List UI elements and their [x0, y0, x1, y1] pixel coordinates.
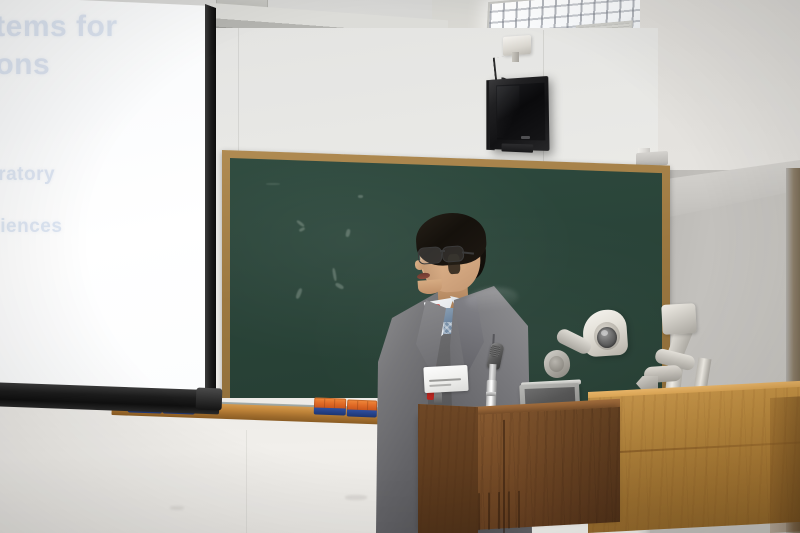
- chalkboard-eraser[interactable]: [347, 399, 378, 417]
- badge-text-line: [429, 378, 461, 382]
- projection-screen[interactable]: stems for tions boratory Sciences: [0, 0, 212, 400]
- lanyard-clip-icon: [434, 392, 442, 404]
- eyeglasses-bridge: [440, 250, 445, 252]
- projection-screen-bar-end: [196, 388, 223, 411]
- lectern-side-panel: [418, 404, 478, 533]
- wall-smudge: [170, 506, 184, 510]
- slide-line-3: boratory: [0, 164, 55, 186]
- tv-brand-logo-icon: [521, 136, 530, 139]
- tv-screen-glare: [497, 86, 519, 139]
- badge-text-line: [429, 384, 451, 387]
- document-camera-joint-hub: [549, 356, 564, 372]
- chalkboard-eraser[interactable]: [314, 397, 347, 415]
- document-camera-head-top[interactable]: [661, 303, 697, 335]
- wall-seam: [246, 430, 247, 533]
- eyeglasses-lens-left: [417, 246, 442, 265]
- lens-glare: [601, 330, 608, 336]
- eraser-base: [347, 409, 377, 417]
- eraser-base: [314, 407, 346, 415]
- slide-line-1: stems for: [0, 10, 118, 44]
- slide-line-4: Sciences: [0, 216, 62, 238]
- wall-smudge: [345, 495, 367, 500]
- eyeglasses-lens-right: [441, 245, 464, 262]
- chalk-mark: [266, 183, 280, 185]
- chalk-mark: [358, 195, 363, 198]
- name-badge: [423, 365, 468, 393]
- projection-screen-edge: [205, 4, 216, 404]
- lecture-hall-photo: 12 1 2 3 4 5 6 7 8 9 10 11: [0, 0, 800, 533]
- tv-mount-foot: [501, 144, 533, 153]
- slide-line-2: tions: [0, 48, 50, 82]
- microphone-collar-ring: [486, 392, 496, 396]
